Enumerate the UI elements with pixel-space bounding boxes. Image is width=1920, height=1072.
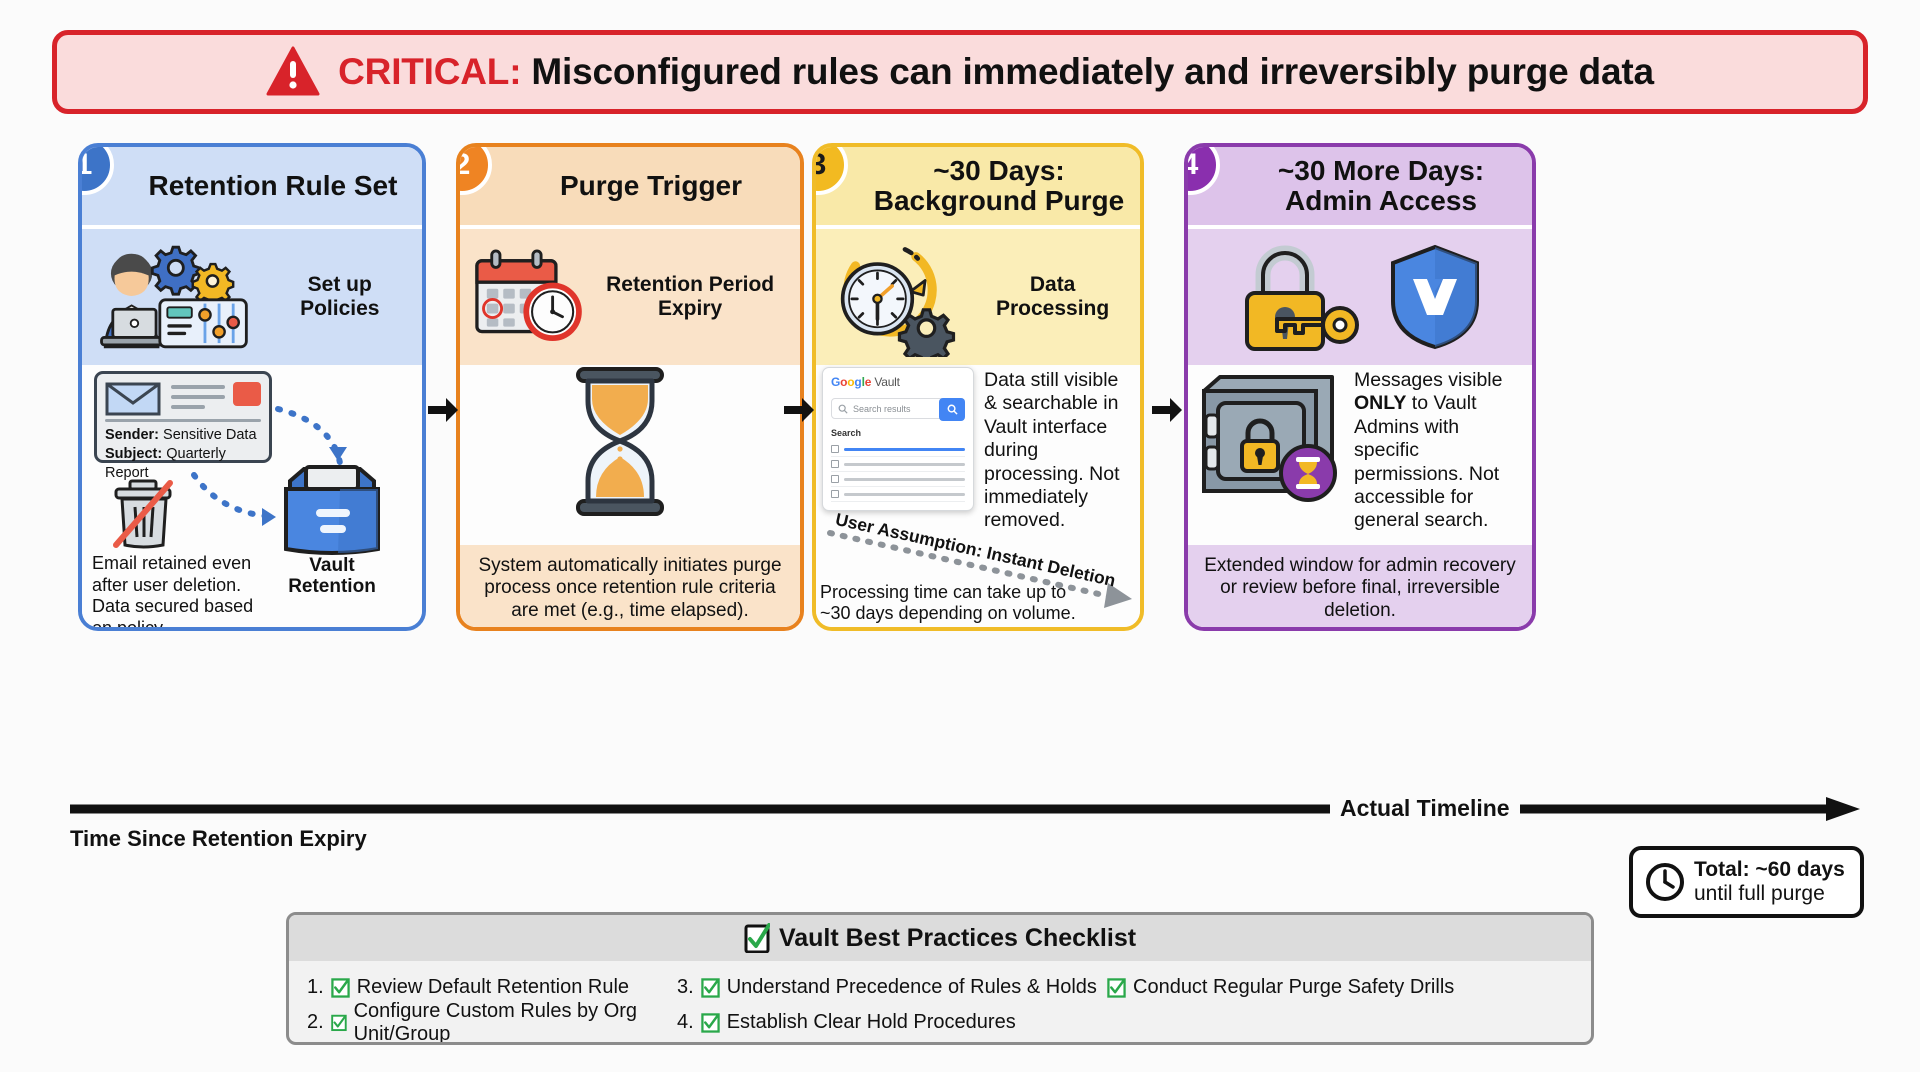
checklist-title-bar: Vault Best Practices Checklist [289, 915, 1591, 961]
vault-section-label: Search [831, 428, 965, 438]
checkbox-icon[interactable] [831, 490, 839, 498]
padlock-key-icon [1237, 241, 1361, 353]
card1-caption: Email retained even after user deletion.… [92, 553, 268, 631]
checkbox-icon[interactable] [831, 445, 839, 453]
calendar-clock-icon [472, 239, 582, 355]
vault-result-row[interactable] [831, 472, 965, 487]
total-line2: until full purge [1694, 882, 1845, 906]
checkbox-checked-icon[interactable] [1107, 977, 1126, 998]
admin-configuring-settings-icon [94, 238, 260, 356]
card3-title: ~30 Days: Background Purge [874, 156, 1124, 216]
search-button-icon [947, 404, 958, 415]
checkbox-checked-icon[interactable] [331, 977, 350, 998]
vault-brand: Google Vault [831, 375, 965, 389]
card4-title: ~30 More Days: Admin Access [1278, 156, 1484, 216]
trash-can-crossed-out-icon [108, 477, 180, 551]
checkbox-checked-icon[interactable] [701, 1012, 720, 1033]
card3-title-line1: ~30 Days: [933, 155, 1065, 186]
vault-label-line1: Vault [274, 555, 390, 576]
checklist-item[interactable]: 1. Review Default Retention Rule [307, 976, 677, 999]
checkbox-checked-icon[interactable] [331, 1012, 347, 1033]
card3-mid-label: Data Processing [977, 273, 1128, 321]
total-line1: Total: ~60 days [1694, 858, 1845, 882]
banner-text: CRITICAL: Misconfigured rules can immedi… [338, 51, 1654, 93]
vault-result-row[interactable] [831, 442, 965, 457]
vault-result-row[interactable] [831, 487, 965, 502]
checklist-title: Vault Best Practices Checklist [779, 924, 1136, 953]
checklist-item-label: Establish Clear Hold Procedures [727, 1011, 1016, 1034]
clock-gear-processing-icon [828, 237, 967, 357]
checkbox-checked-icon [744, 923, 770, 953]
card2-caption: System automatically initiates purge pro… [460, 545, 800, 631]
card2-mid-row: Retention Period Expiry [460, 225, 800, 365]
checklist-item-label: Conduct Regular Purge Safety Drills [1133, 976, 1454, 999]
card3-side-text: Data still visible & searchable in Vault… [984, 369, 1134, 533]
step-card-admin-access[interactable]: 4 ~30 More Days: Admin Access [1184, 143, 1536, 631]
vault-file-box-icon [280, 463, 384, 557]
step-card-background-purge[interactable]: 3 ~30 Days: Background Purge [812, 143, 1144, 631]
card2-body: System automatically initiates purge pro… [460, 365, 800, 631]
checklist-item-number: 1. [307, 976, 324, 999]
vault-result-row[interactable] [831, 457, 965, 472]
checklist-item-label: Review Default Retention Rule [357, 976, 629, 999]
vault-retention-label: Vault Retention [274, 555, 390, 598]
vault-shield-icon [1387, 243, 1483, 351]
card1-mid-label: Set up Policies [270, 273, 410, 321]
banner-critical-word: CRITICAL: [338, 51, 521, 92]
warning-triangle-icon [266, 46, 320, 98]
checklist-body: 1. Review Default Retention Rule 3. Unde… [289, 961, 1591, 1040]
checklist-item-number: 2. [307, 1011, 324, 1034]
total-duration-badge: Total: ~60 days until full purge [1629, 846, 1864, 918]
checklist-item-label: Configure Custom Rules by Org Unit/Group [354, 1000, 677, 1046]
card3-header: ~30 Days: Background Purge [816, 147, 1140, 225]
card4-body: Messages visible ONLY to Vault Admins wi… [1188, 365, 1532, 631]
card2-header: Purge Trigger [460, 147, 800, 225]
card4-title-line1: ~30 More Days: [1278, 155, 1484, 186]
card4-side-text: Messages visible ONLY to Vault Admins wi… [1354, 369, 1528, 533]
magnifier-icon [838, 404, 848, 414]
checklist-row-2: 2. Configure Custom Rules by Org Unit/Gr… [307, 1005, 1573, 1040]
card3-body: Google Vault Search results S [816, 365, 1140, 631]
checklist-item-number: 3. [677, 976, 694, 999]
card4-header: ~30 More Days: Admin Access [1188, 147, 1532, 225]
checklist-item[interactable]: 3. Understand Precedence of Rules & Hold… [677, 976, 1107, 999]
card4-side-text-bold: ONLY [1354, 392, 1406, 414]
vault-result-list [831, 442, 965, 502]
card3-mid-row: Data Processing [816, 225, 1140, 365]
checkbox-icon[interactable] [831, 475, 839, 483]
arrow-card2-to-card3 [784, 395, 814, 425]
hourglass-icon [566, 367, 674, 517]
card4-side-text-pre: Messages visible [1354, 369, 1502, 391]
checkbox-icon[interactable] [831, 460, 839, 468]
checklist-item[interactable]: 2. Configure Custom Rules by Org Unit/Gr… [307, 1000, 677, 1046]
checklist-item[interactable]: Conduct Regular Purge Safety Drills [1107, 976, 1454, 999]
arrow-card3-to-card4 [1152, 395, 1182, 425]
card2-mid-label: Retention Period Expiry [592, 273, 788, 321]
best-practices-checklist: Vault Best Practices Checklist 1. Review… [286, 912, 1594, 1045]
card3-title-line2: Background Purge [874, 185, 1124, 216]
timeline-left-label: Time Since Retention Expiry [70, 826, 367, 852]
card1-title: Retention Rule Set [149, 171, 398, 201]
card4-title-line2: Admin Access [1285, 185, 1477, 216]
card3-caption: Processing time can take up to ~30 days … [820, 582, 1088, 625]
checklist-item[interactable]: 4. Establish Clear Hold Procedures [677, 1011, 1016, 1034]
google-vault-ui-mock[interactable]: Google Vault Search results S [822, 367, 974, 511]
infographic-canvas: CRITICAL: Misconfigured rules can immedi… [0, 0, 1920, 1072]
timeline-right-label: Actual Timeline [1330, 795, 1520, 822]
vault-search-button[interactable] [939, 398, 965, 421]
timeline-axis [70, 796, 1860, 822]
card1-header: Retention Rule Set [82, 147, 422, 225]
vault-search-box[interactable]: Search results [831, 398, 965, 419]
step-card-purge-trigger[interactable]: 2 Purge Trigger [456, 143, 804, 631]
banner-message: Misconfigured rules can immediately and … [521, 51, 1654, 92]
vault-brand-word: Vault [871, 375, 900, 389]
checklist-item-number: 4. [677, 1011, 694, 1034]
checkbox-checked-icon[interactable] [701, 977, 720, 998]
safe-with-hourglass-icon [1192, 369, 1348, 509]
clock-icon [1645, 862, 1685, 902]
vault-search-placeholder: Search results [853, 404, 911, 414]
critical-warning-banner: CRITICAL: Misconfigured rules can immedi… [52, 30, 1868, 114]
card4-caption: Extended window for admin recovery or re… [1188, 545, 1532, 631]
vault-label-line2: Retention [274, 576, 390, 597]
checklist-item-label: Understand Precedence of Rules & Holds [727, 976, 1097, 999]
card4-mid-row [1188, 225, 1532, 365]
card2-title: Purge Trigger [560, 171, 742, 201]
card1-body: Sender: Sensitive Data Subject: Quarterl… [82, 365, 422, 631]
arrow-card1-to-card2 [428, 395, 458, 425]
card1-mid-row: Set up Policies [82, 225, 422, 365]
step-card-retention-rule-set[interactable]: 1 Retention Rule Set [78, 143, 426, 631]
